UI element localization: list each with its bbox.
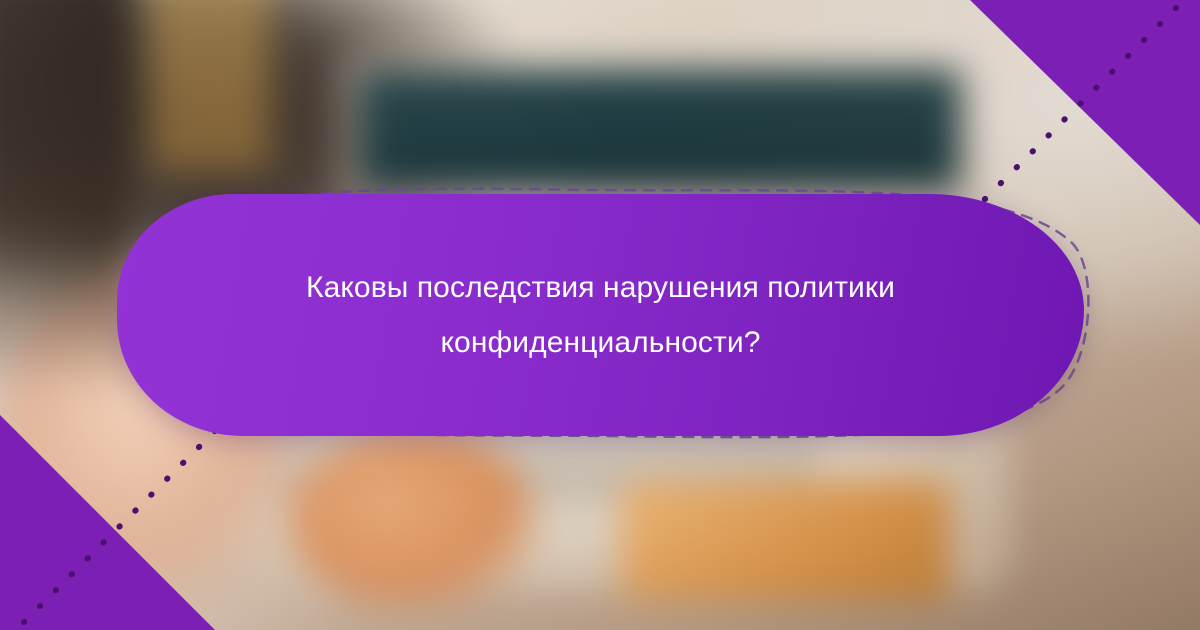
headline-blob: Каковы последствия нарушения политики ко…	[117, 194, 1084, 436]
page-title: Каковы последствия нарушения политики ко…	[191, 260, 1011, 371]
headline-card: Каковы последствия нарушения политики ко…	[103, 180, 1098, 445]
social-card: Каковы последствия нарушения политики ко…	[0, 0, 1200, 630]
